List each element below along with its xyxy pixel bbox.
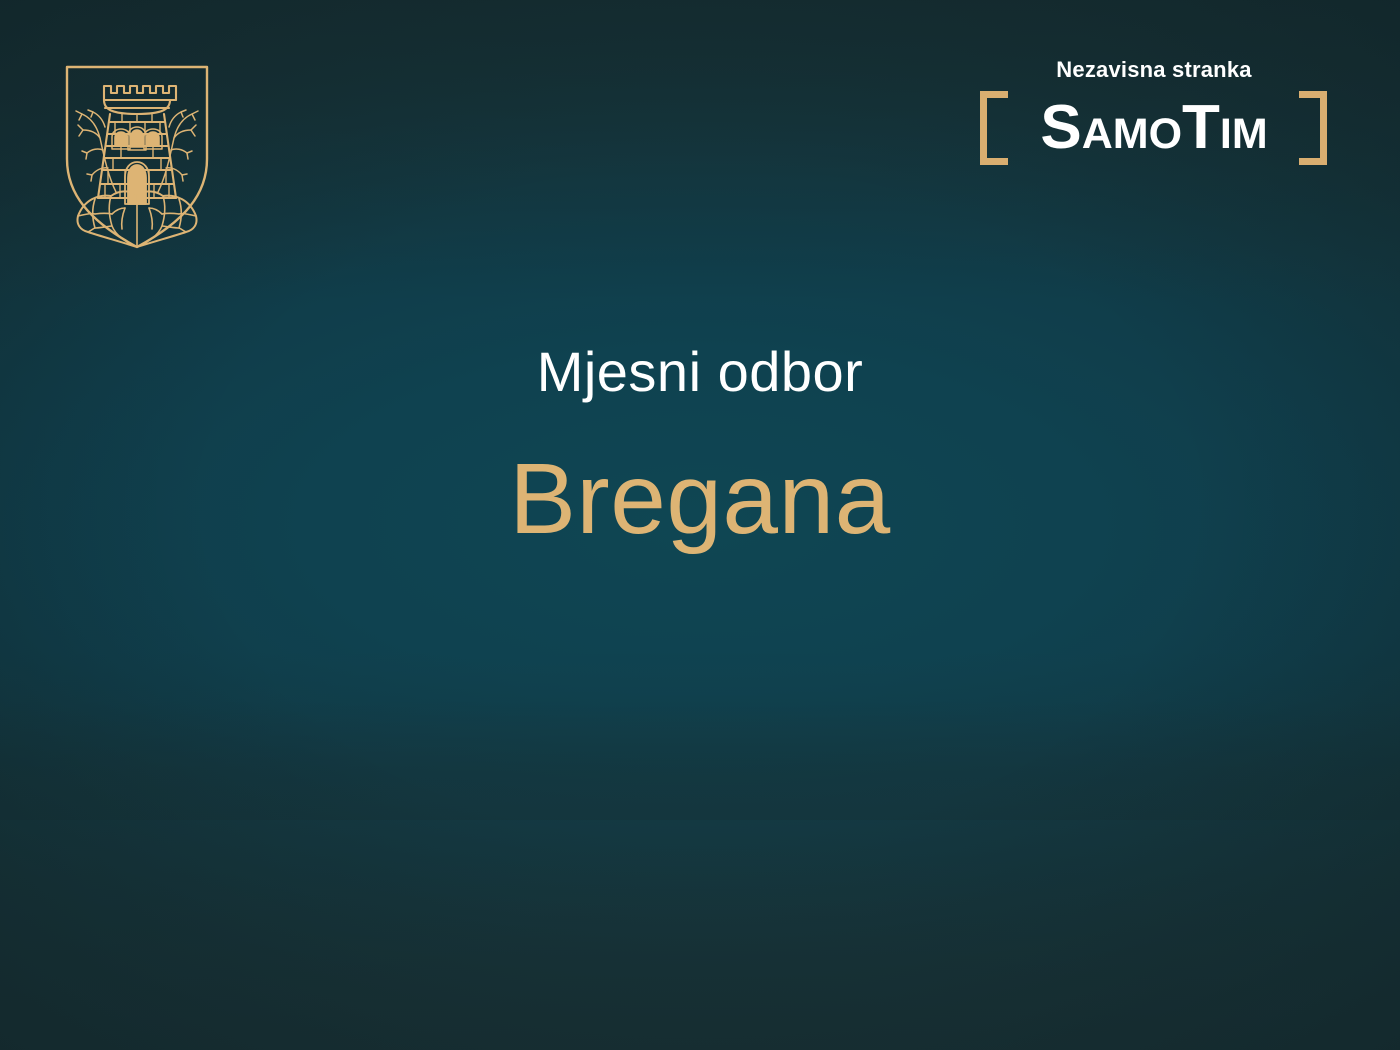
coat-of-arms-icon bbox=[64, 64, 210, 250]
slide-title: Bregana bbox=[0, 436, 1400, 562]
right-bracket-icon bbox=[1299, 91, 1327, 165]
logo-tagline: Nezavisna stranka bbox=[975, 55, 1333, 85]
title-block: Mjesni odbor Bregana bbox=[0, 336, 1400, 562]
samotim-logo: Nezavisna stranka SamoTim bbox=[975, 55, 1333, 173]
slide-subtitle: Mjesni odbor bbox=[0, 336, 1400, 408]
logo-wordmark-row: SamoTim bbox=[975, 85, 1333, 171]
logo-wordmark: SamoTim bbox=[975, 85, 1333, 171]
title-slide: Nezavisna stranka SamoTim Mjesni odbor B… bbox=[0, 0, 1400, 1050]
